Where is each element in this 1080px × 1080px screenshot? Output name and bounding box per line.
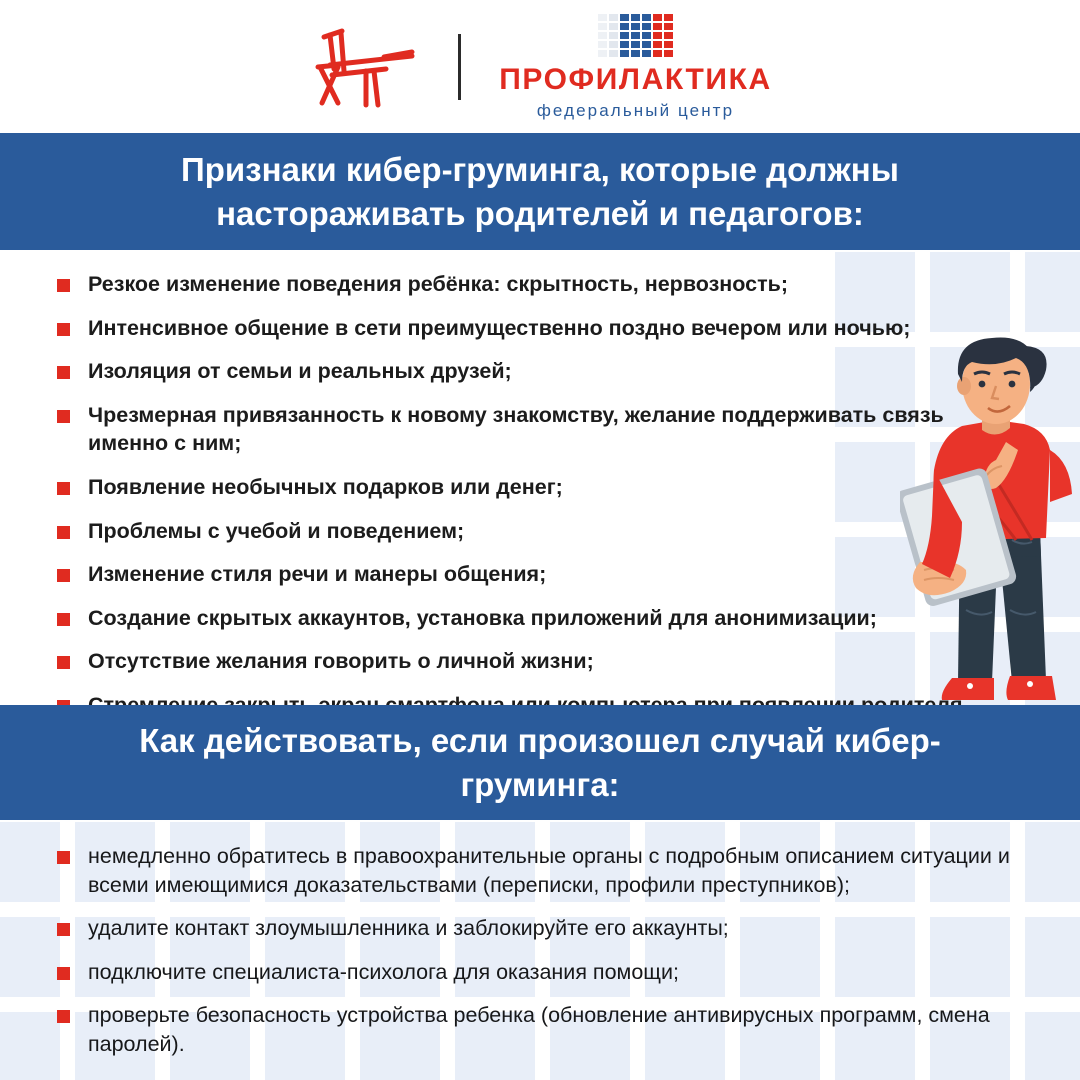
bullet-square-icon bbox=[57, 1010, 70, 1023]
list-item-text: Отсутствие желания говорить о личной жиз… bbox=[88, 649, 594, 673]
actions-list-block: немедленно обратитесь в правоохранительн… bbox=[0, 820, 1080, 1074]
bullet-square-icon bbox=[57, 366, 70, 379]
section-heading-band-2: Как действовать, если произошел случай к… bbox=[0, 705, 1080, 820]
grid-squares-icon bbox=[598, 14, 673, 57]
list-item: Резкое изменение поведения ребёнка: скры… bbox=[0, 270, 1080, 299]
list-item-text: немедленно обратитесь в правоохранительн… bbox=[88, 844, 1010, 897]
list-item-text: Чрезмерная привязанность к новому знаком… bbox=[88, 403, 944, 456]
bullet-square-icon bbox=[57, 656, 70, 669]
list-item: подключите специалиста-психолога для ока… bbox=[0, 958, 1080, 987]
horse-line-art-icon bbox=[308, 25, 420, 109]
bullet-square-icon bbox=[57, 482, 70, 495]
bullet-square-icon bbox=[57, 613, 70, 626]
section-heading-text: Признаки кибер-груминга, которые должны … bbox=[0, 148, 1080, 235]
infographic-poster: ПРОФИЛАКТИКА федеральный центр Признаки … bbox=[0, 0, 1080, 1080]
section-heading-band-1: Признаки кибер-груминга, которые должны … bbox=[0, 133, 1080, 250]
list-item-text: Изменение стиля речи и манеры общения; bbox=[88, 562, 546, 586]
list-item-text: Интенсивное общение в сети преимуществен… bbox=[88, 316, 910, 340]
list-item: немедленно обратитесь в правоохранительн… bbox=[0, 842, 1080, 899]
brand-subtitle: федеральный центр bbox=[537, 102, 734, 119]
list-item-text: Появление необычных подарков или денег; bbox=[88, 475, 563, 499]
bullet-square-icon bbox=[57, 279, 70, 292]
thinking-boy-with-tablet-illustration bbox=[900, 330, 1080, 720]
bullet-square-icon bbox=[57, 967, 70, 980]
section-heading-text: Как действовать, если произошел случай к… bbox=[0, 719, 1080, 806]
list-item-text: Проблемы с учебой и поведением; bbox=[88, 519, 464, 543]
brand-name: ПРОФИЛАКТИКА bbox=[499, 65, 772, 95]
bullet-square-icon bbox=[57, 569, 70, 582]
actions-list: немедленно обратитесь в правоохранительн… bbox=[0, 842, 1080, 1059]
list-item-text: Резкое изменение поведения ребёнка: скры… bbox=[88, 272, 788, 296]
bullet-square-icon bbox=[57, 923, 70, 936]
list-item: проверьте безопасность устройства ребенк… bbox=[0, 1001, 1080, 1058]
list-item-text: Изоляция от семьи и реальных друзей; bbox=[88, 359, 512, 383]
list-item-text: удалите контакт злоумышленника и заблоки… bbox=[88, 916, 729, 940]
bullet-square-icon bbox=[57, 410, 70, 423]
bullet-square-icon bbox=[57, 323, 70, 336]
bullet-square-icon bbox=[57, 851, 70, 864]
bullet-square-icon bbox=[57, 526, 70, 539]
logo-divider bbox=[458, 34, 461, 100]
list-item-text: проверьте безопасность устройства ребенк… bbox=[88, 1003, 990, 1056]
list-item-text: Создание скрытых аккаунтов, установка пр… bbox=[88, 606, 877, 630]
list-item-text: подключите специалиста-психолога для ока… bbox=[88, 960, 679, 984]
list-item: удалите контакт злоумышленника и заблоки… bbox=[0, 914, 1080, 943]
logo-bar: ПРОФИЛАКТИКА федеральный центр bbox=[0, 0, 1080, 133]
